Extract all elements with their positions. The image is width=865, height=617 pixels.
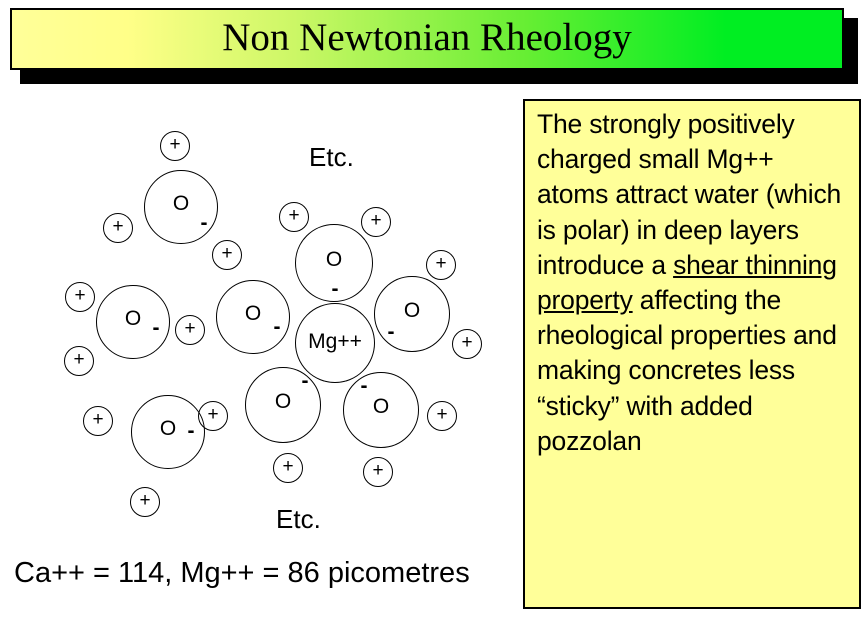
oxygen-atom: O- bbox=[131, 395, 205, 469]
magnesium-symbol: Mg++ bbox=[308, 330, 362, 354]
positive-charge-symbol: + bbox=[139, 490, 150, 512]
oxygen-symbol: O bbox=[125, 307, 141, 331]
positive-charge-symbol: + bbox=[436, 404, 447, 426]
positive-charge-symbol: + bbox=[207, 404, 218, 426]
negative-charge-symbol: - bbox=[274, 316, 281, 340]
hydrogen-atom: + bbox=[130, 487, 160, 517]
explanation-textbox: The strongly positively charged small Mg… bbox=[523, 99, 861, 609]
oxygen-atom: O- bbox=[343, 372, 419, 448]
hydrogen-atom: + bbox=[198, 401, 228, 431]
positive-charge-symbol: + bbox=[221, 243, 232, 265]
oxygen-symbol: O bbox=[275, 390, 291, 414]
oxygen-symbol: O bbox=[373, 395, 389, 419]
positive-charge-symbol: + bbox=[112, 216, 123, 238]
negative-charge-symbol: - bbox=[388, 321, 395, 345]
oxygen-symbol: O bbox=[173, 192, 189, 216]
hydrogen-atom: + bbox=[103, 213, 133, 243]
hydrogen-atom: + bbox=[273, 453, 303, 483]
hydrogen-atom: + bbox=[83, 406, 113, 436]
hydrogen-atom: + bbox=[175, 315, 205, 345]
oxygen-atom: O- bbox=[245, 367, 321, 443]
title-banner: Non Newtonian Rheology bbox=[10, 8, 848, 74]
explanation-text: The strongly positively charged small Mg… bbox=[537, 107, 851, 459]
negative-charge-symbol: - bbox=[201, 212, 208, 236]
page-title: Non Newtonian Rheology bbox=[10, 8, 844, 70]
molecule-diagram: Etc. Etc. +O-++++O-++O-+O-O-Mg++++O-O-+O… bbox=[0, 90, 520, 550]
positive-charge-symbol: + bbox=[184, 318, 195, 340]
positive-charge-symbol: + bbox=[372, 460, 383, 482]
positive-charge-symbol: + bbox=[92, 409, 103, 431]
hydrogen-atom: + bbox=[427, 401, 457, 431]
hydrogen-atom: + bbox=[426, 250, 456, 280]
oxygen-symbol: O bbox=[160, 417, 176, 441]
hydrogen-atom: + bbox=[363, 457, 393, 487]
positive-charge-symbol: + bbox=[169, 134, 180, 156]
diagram-label-etc-bottom: Etc. bbox=[276, 504, 321, 535]
negative-charge-symbol: - bbox=[361, 375, 368, 399]
diagram-caption: Ca++ = 114, Mg++ = 86 picometres bbox=[14, 557, 470, 590]
positive-charge-symbol: + bbox=[288, 205, 299, 227]
hydrogen-atom: + bbox=[212, 240, 242, 270]
hydrogen-atom: + bbox=[160, 131, 190, 161]
diagram-label-etc-top: Etc. bbox=[309, 142, 354, 173]
positive-charge-symbol: + bbox=[435, 253, 446, 275]
hydrogen-atom: + bbox=[64, 346, 94, 376]
hydrogen-atom: + bbox=[361, 207, 391, 237]
negative-charge-symbol: - bbox=[302, 370, 309, 394]
oxygen-atom: O- bbox=[216, 280, 290, 354]
positive-charge-symbol: + bbox=[282, 456, 293, 478]
oxygen-symbol: O bbox=[326, 248, 342, 272]
negative-charge-symbol: - bbox=[153, 317, 160, 341]
oxygen-atom: O- bbox=[374, 276, 450, 352]
positive-charge-symbol: + bbox=[74, 285, 85, 307]
oxygen-symbol: O bbox=[404, 299, 420, 323]
oxygen-atom: O- bbox=[295, 224, 373, 302]
oxygen-symbol: O bbox=[245, 302, 261, 326]
positive-charge-symbol: + bbox=[370, 210, 381, 232]
positive-charge-symbol: + bbox=[461, 332, 472, 354]
positive-charge-symbol: + bbox=[73, 349, 84, 371]
oxygen-atom: O- bbox=[144, 170, 218, 244]
negative-charge-symbol: - bbox=[332, 278, 339, 302]
oxygen-atom: O- bbox=[96, 285, 170, 359]
hydrogen-atom: + bbox=[279, 202, 309, 232]
hydrogen-atom: + bbox=[65, 282, 95, 312]
negative-charge-symbol: - bbox=[188, 420, 195, 444]
hydrogen-atom: + bbox=[452, 329, 482, 359]
